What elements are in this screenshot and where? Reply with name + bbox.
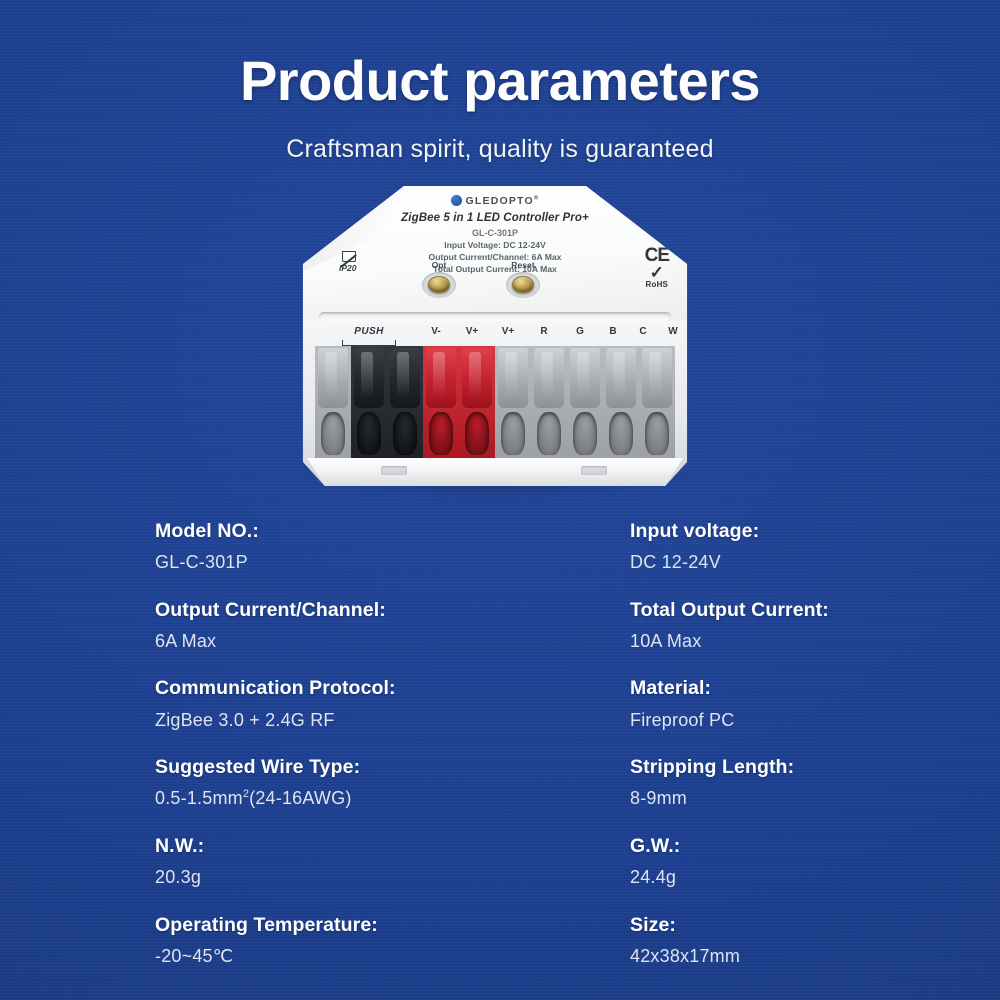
- spec-row-stripping-length: Stripping Length: 8-9mm: [630, 754, 895, 811]
- spec-value: 10A Max: [630, 630, 895, 653]
- terminal-hole: [573, 412, 597, 455]
- terminal-label-vplus1: V+: [466, 326, 479, 337]
- terminal-lever[interactable]: [534, 348, 564, 408]
- terminal-slot[interactable]: [639, 346, 675, 466]
- terminal-lever[interactable]: [462, 348, 492, 408]
- terminal-hole: [465, 412, 489, 455]
- terminal-lever[interactable]: [642, 348, 672, 408]
- terminal-hole: [501, 412, 525, 455]
- terminal-hole: [609, 412, 633, 455]
- case-groove: [319, 312, 671, 321]
- terminal-block: [315, 346, 675, 466]
- spec-value: DC 12-24V: [630, 551, 895, 574]
- spec-label: Total Output Current:: [630, 597, 895, 623]
- spec-label: Communication Protocol:: [155, 675, 630, 701]
- spec-value: 20.3g: [155, 866, 630, 889]
- terminal-lever[interactable]: [390, 348, 420, 408]
- spec-value: 24.4g: [630, 866, 895, 889]
- spec-label: G.W.:: [630, 833, 895, 859]
- terminal-label-c: C: [639, 326, 646, 337]
- device-front-lip: [299, 458, 691, 488]
- spec-value: 0.5-1.5mm2(24-16AWG): [155, 787, 630, 810]
- trademark-icon: ®: [534, 196, 540, 202]
- terminal-lever[interactable]: [570, 348, 600, 408]
- spec-row-net-weight: N.W.: 20.3g: [155, 833, 630, 890]
- device-product-name: ZigBee 5 in 1 LED Controller Pro+: [297, 212, 693, 224]
- terminal-label-vplus2: V+: [502, 326, 515, 337]
- page-subtitle: Craftsman spirit, quality is guaranteed: [0, 135, 1000, 164]
- terminal-label-vminus: V-: [431, 326, 440, 337]
- terminal-hole: [357, 412, 381, 455]
- opt-button-label: Opt: [415, 260, 463, 270]
- spec-label: Suggested Wire Type:: [155, 754, 630, 780]
- page-header: Product parameters Craftsman spirit, qua…: [0, 0, 1000, 164]
- spec-label: Operating Temperature:: [155, 912, 630, 938]
- terminal-slot[interactable]: [603, 346, 639, 466]
- spec-label: Model NO.:: [155, 518, 630, 544]
- ip-rating-mark: IP20: [339, 248, 357, 273]
- terminal-slot[interactable]: [423, 346, 459, 466]
- terminal-slot[interactable]: [495, 346, 531, 466]
- device-brand-logo: GLEDOPTO®: [297, 195, 693, 207]
- lip-notch: [581, 466, 607, 475]
- page-title: Product parameters: [0, 52, 1000, 111]
- reset-button[interactable]: [512, 276, 534, 293]
- rohs-mark-label: RoHS: [645, 280, 669, 289]
- gledopto-logo-icon: [451, 195, 462, 206]
- spec-row-suggested-wire-type: Suggested Wire Type: 0.5-1.5mm2(24-16AWG…: [155, 754, 630, 811]
- device-case: GLEDOPTO® ZigBee 5 in 1 LED Controller P…: [297, 186, 693, 486]
- terminal-label-push: PUSH: [354, 326, 383, 337]
- page-background: Product parameters Craftsman spirit, qua…: [0, 0, 1000, 1000]
- spec-value: -20~45℃: [155, 945, 630, 968]
- terminal-slot[interactable]: [531, 346, 567, 466]
- device-brand-name: GLEDOPTO: [466, 195, 534, 207]
- spec-row-output-current-channel: Output Current/Channel: 6A Max: [155, 597, 630, 654]
- checkmark-icon: ✓: [645, 265, 669, 280]
- spec-label: Size:: [630, 912, 895, 938]
- terminal-hole: [429, 412, 453, 455]
- spec-value: ZigBee 3.0 + 2.4G RF: [155, 709, 630, 732]
- terminal-slot[interactable]: [387, 346, 423, 466]
- terminal-lever[interactable]: [354, 348, 384, 408]
- spec-value: 42x38x17mm: [630, 945, 895, 968]
- terminal-label-g: G: [576, 326, 584, 337]
- terminal-slot[interactable]: [567, 346, 603, 466]
- spec-label: Stripping Length:: [630, 754, 895, 780]
- terminal-hole: [393, 412, 417, 455]
- lip-notch: [381, 466, 407, 475]
- terminal-slot[interactable]: [351, 346, 387, 466]
- spec-value: Fireproof PC: [630, 709, 895, 732]
- terminal-lever[interactable]: [606, 348, 636, 408]
- spec-label: N.W.:: [155, 833, 630, 859]
- spec-label: Input voltage:: [630, 518, 895, 544]
- spec-row-total-output-current: Total Output Current: 10A Max: [630, 597, 895, 654]
- terminal-hole: [537, 412, 561, 455]
- terminal-lever[interactable]: [318, 348, 348, 408]
- spec-row-input-voltage: Input voltage: DC 12-24V: [630, 518, 895, 575]
- spec-value: 8-9mm: [630, 787, 895, 810]
- terminal-lever[interactable]: [498, 348, 528, 408]
- product-image: GLEDOPTO® ZigBee 5 in 1 LED Controller P…: [297, 186, 693, 494]
- reset-button-label: Reset: [499, 260, 547, 270]
- spec-value: GL-C-301P: [155, 551, 630, 574]
- terminal-slot[interactable]: [315, 346, 351, 466]
- specifications-grid: Model NO.: GL-C-301P Input voltage: DC 1…: [155, 518, 895, 990]
- opt-button[interactable]: [428, 276, 450, 293]
- spec-row-model-no: Model NO.: GL-C-301P: [155, 518, 630, 575]
- spec-label: Material:: [630, 675, 895, 701]
- spec-row-operating-temperature: Operating Temperature: -20~45℃: [155, 912, 630, 969]
- terminal-hole: [321, 412, 345, 455]
- spec-value: 6A Max: [155, 630, 630, 653]
- terminal-lever[interactable]: [426, 348, 456, 408]
- terminal-hole: [645, 412, 669, 455]
- spec-row-size: Size: 42x38x17mm: [630, 912, 895, 969]
- terminal-label-r: R: [540, 326, 547, 337]
- weee-bin-icon: [340, 248, 356, 261]
- terminal-slot[interactable]: [459, 346, 495, 466]
- spec-row-communication-protocol: Communication Protocol: ZigBee 3.0 + 2.4…: [155, 675, 630, 732]
- spec-row-gross-weight: G.W.: 24.4g: [630, 833, 895, 890]
- terminal-label-b: B: [609, 326, 616, 337]
- certification-marks: CE ✓ RoHS: [645, 246, 669, 289]
- spec-row-material: Material: Fireproof PC: [630, 675, 895, 732]
- spec-label: Output Current/Channel:: [155, 597, 630, 623]
- terminal-label-w: W: [668, 326, 677, 337]
- device-model-code: GL-C-301P: [297, 228, 693, 238]
